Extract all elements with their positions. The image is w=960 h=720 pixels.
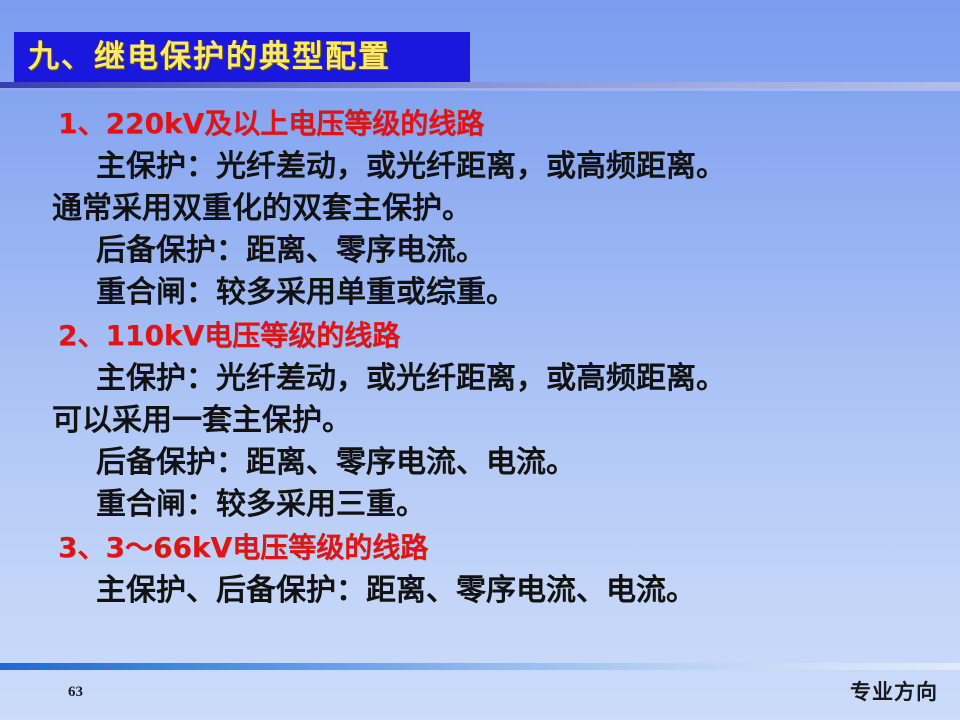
section-2-line-4: 重合闸：较多采用三重。 (96, 490, 960, 520)
section-1-line-4: 重合闸：较多采用单重或综重。 (96, 278, 960, 308)
section-3-line-1: 主保护、后备保护：距离、零序电流、电流。 (96, 576, 960, 606)
section-heading-3: 3、3～66kV电压等级的线路 (58, 534, 960, 562)
section-2-line-1: 主保护：光纤差动，或光纤距离，或高频距离。 (96, 364, 960, 394)
title-bar-shadow-glow (0, 88, 960, 91)
footer-label: 专业方向 (850, 676, 938, 706)
slide-body: 1、220kV及以上电压等级的线路 主保护：光纤差动，或光纤距离，或高频距离。 … (0, 110, 960, 606)
slide-title: 九、继电保护的典型配置 (28, 42, 391, 73)
slide-footer: 63 专业方向 (0, 670, 960, 720)
section-2-line-2: 可以采用一套主保护。 (52, 406, 960, 436)
page-number: 63 (68, 684, 83, 701)
section-1-line-2: 通常采用双重化的双套主保护。 (52, 194, 960, 224)
footer-divider (0, 663, 960, 670)
section-2-line-3: 后备保护：距离、零序电流、电流。 (96, 448, 960, 478)
slide-title-bar: 九、继电保护的典型配置 (14, 32, 470, 82)
slide-canvas: 九、继电保护的典型配置 1、220kV及以上电压等级的线路 主保护：光纤差动，或… (0, 0, 960, 720)
section-heading-1: 1、220kV及以上电压等级的线路 (58, 110, 960, 138)
section-heading-2: 2、110kV电压等级的线路 (58, 322, 960, 350)
section-1-line-3: 后备保护：距离、零序电流。 (96, 236, 960, 266)
section-1-line-1: 主保护：光纤差动，或光纤距离，或高频距离。 (96, 152, 960, 182)
